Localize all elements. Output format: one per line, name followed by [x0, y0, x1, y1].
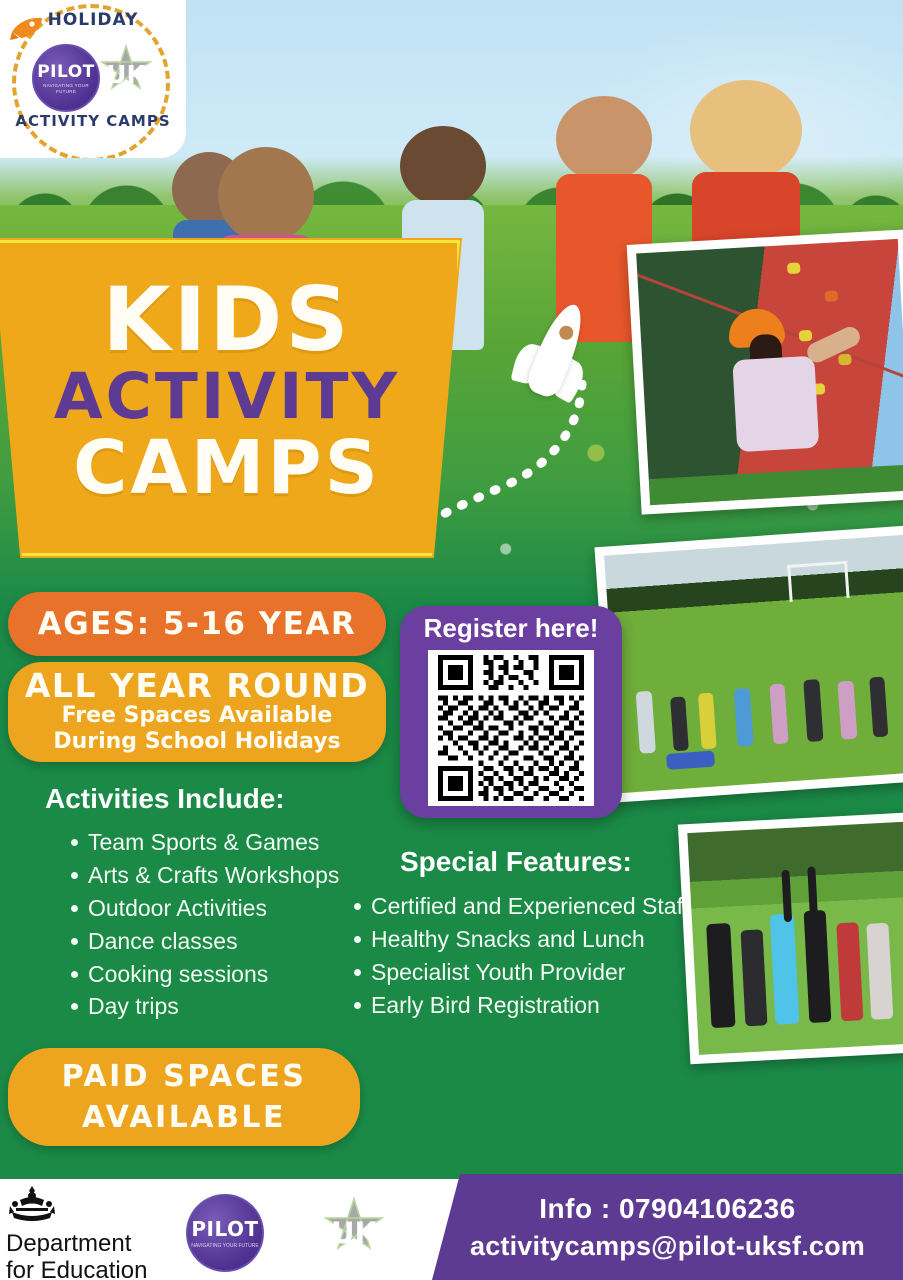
logo-holiday-text: HOLIDAY	[0, 10, 186, 30]
list-item: Healthy Snacks and Lunch	[371, 925, 695, 955]
list-item: Day trips	[88, 992, 382, 1022]
list-item: Outdoor Activities	[88, 894, 382, 924]
royal-crest-icon	[6, 1184, 58, 1224]
title-line-activity: ACTIVITY	[0, 365, 462, 429]
badge-free-line-1: Free Spaces Available	[62, 703, 333, 729]
badge-all-year-label: ALL YEAR ROUND	[25, 669, 369, 704]
contact-phone[interactable]: Info : 07904106236	[539, 1193, 796, 1225]
logo-activity-camps-text: ACTIVITY CAMPS	[0, 112, 186, 130]
list-item: Cooking sessions	[88, 960, 382, 990]
uk-star-icon: UK	[312, 1192, 396, 1276]
pilot-name: PILOT	[191, 1217, 258, 1241]
uk-star-icon: UK	[90, 40, 162, 112]
pilot-logo: PILOT NAVIGATING YOUR FUTURE	[186, 1194, 264, 1272]
badge-ages-label: AGES: 5-16 YEAR	[38, 606, 356, 642]
qr-code-icon[interactable]	[428, 650, 594, 806]
badge-ages: AGES: 5-16 YEAR	[8, 592, 386, 656]
list-item: Specialist Youth Provider	[371, 958, 695, 988]
dfe-line-2: for Education	[6, 1258, 176, 1280]
holiday-activity-camps-logo: HOLIDAY UK PILOT NAVIGATING YOUR FUTURE …	[0, 0, 186, 158]
activities-heading: Activities Include:	[45, 783, 285, 815]
list-item: Dance classes	[88, 927, 382, 957]
pilot-name: PILOT	[37, 62, 95, 82]
pilot-tagline: NAVIGATING YOUR FUTURE	[191, 1243, 259, 1250]
list-item: Arts & Crafts Workshops	[88, 861, 382, 891]
list-item: Early Bird Registration	[371, 991, 695, 1021]
poster-footer: Department for Education PILOT NAVIGATIN…	[0, 1174, 903, 1280]
register-here-label: Register here!	[424, 613, 599, 644]
badge-all-year-round: ALL YEAR ROUND Free Spaces Available Dur…	[8, 662, 386, 762]
activities-list: Team Sports & Games Arts & Crafts Worksh…	[62, 828, 382, 1025]
pilot-tagline: NAVIGATING YOUR FUTURE	[34, 83, 98, 94]
uk-label: UK	[312, 1216, 396, 1250]
dfe-line-1: Department	[6, 1231, 176, 1256]
photo-kids-cheering	[678, 812, 903, 1065]
badge-paid-spaces: PAID SPACES AVAILABLE	[8, 1048, 360, 1146]
department-for-education-logo: Department for Education	[6, 1184, 176, 1280]
features-heading: Special Features:	[400, 846, 632, 878]
features-list: Certified and Experienced Staff Healthy …	[345, 892, 695, 1024]
footer-contact-panel: Info : 07904106236 activitycamps@pilot-u…	[432, 1174, 903, 1280]
badge-free-line-2: During School Holidays	[53, 729, 340, 755]
badge-paid-label: PAID SPACES AVAILABLE	[8, 1056, 360, 1139]
pilot-logo: PILOT NAVIGATING YOUR FUTURE	[32, 44, 100, 112]
title-line-camps: CAMPS	[0, 431, 462, 505]
photo-field-games	[594, 525, 903, 803]
contact-email[interactable]: activitycamps@pilot-uksf.com	[470, 1231, 865, 1262]
uk-label: UK	[90, 60, 162, 89]
photo-climbing-wall	[627, 229, 903, 514]
list-item: Team Sports & Games	[88, 828, 382, 858]
list-item: Certified and Experienced Staff	[371, 892, 695, 922]
poster-root: KIDS ACTIVITY CAMPS	[0, 0, 903, 1280]
poster-title-banner: KIDS ACTIVITY CAMPS	[0, 238, 462, 558]
title-line-kids: KIDS	[0, 280, 462, 361]
register-qr-card[interactable]: Register here!	[400, 606, 622, 818]
